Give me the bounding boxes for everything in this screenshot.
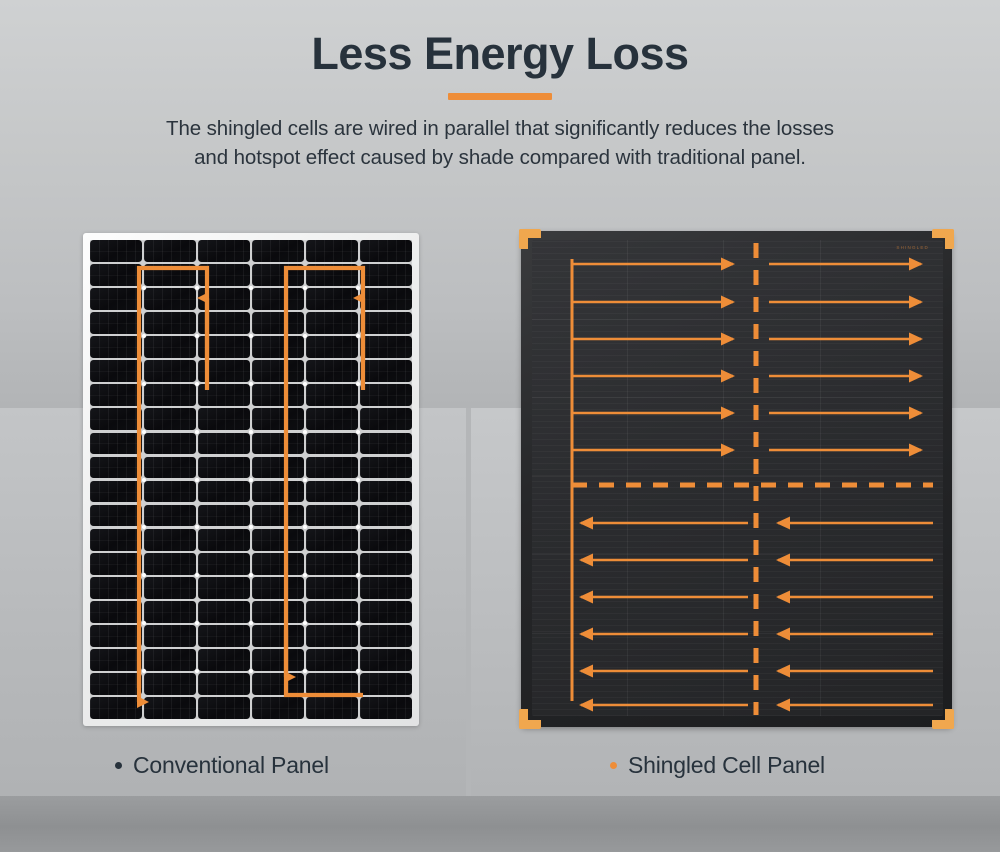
solar-cell [198, 481, 250, 503]
solar-cell [90, 264, 142, 286]
solar-cell [198, 553, 250, 575]
solar-cell [306, 649, 358, 671]
solar-cell [360, 433, 412, 455]
solar-cell [198, 673, 250, 695]
solar-cell [360, 288, 412, 310]
solar-cell [198, 336, 250, 358]
solar-cell [360, 577, 412, 599]
solar-cell [306, 384, 358, 406]
solar-cell [90, 457, 142, 479]
solar-cell [198, 505, 250, 527]
corner-bracket-top-right-icon [932, 229, 954, 249]
solar-cell [144, 240, 196, 262]
solar-cell [360, 240, 412, 262]
cell-junction-dot [356, 525, 360, 529]
caption-shingled-label: Shingled Cell Panel [628, 752, 825, 779]
subtitle: The shingled cells are wired in parallel… [0, 114, 1000, 172]
solar-cell [306, 625, 358, 647]
caption-conventional-label: Conventional Panel [133, 752, 329, 779]
solar-cell [252, 673, 304, 695]
solar-cell [252, 433, 304, 455]
solar-cell [90, 625, 142, 647]
solar-cell [360, 408, 412, 430]
header: Less Energy Loss The shingled cells are … [0, 0, 1000, 172]
solar-cell [252, 336, 304, 358]
solar-cell [144, 577, 196, 599]
solar-cell [198, 360, 250, 382]
solar-cell [144, 625, 196, 647]
shingled-panel-illustration: SHINGLED [521, 231, 952, 727]
solar-cell [252, 360, 304, 382]
solar-cell [306, 336, 358, 358]
solar-cell [306, 481, 358, 503]
solar-cell [198, 529, 250, 551]
solar-cell [360, 457, 412, 479]
solar-cell [198, 625, 250, 647]
solar-cell [90, 360, 142, 382]
shingled-cell-surface: SHINGLED [532, 240, 943, 716]
solar-cell [90, 336, 142, 358]
solar-cell [144, 384, 196, 406]
solar-cell [306, 408, 358, 430]
caption-shingled-panel: Shingled Cell Panel [610, 752, 825, 779]
solar-cell [360, 529, 412, 551]
solar-cell [252, 697, 304, 719]
solar-cell [360, 384, 412, 406]
solar-cell [306, 601, 358, 623]
solar-cell [90, 433, 142, 455]
solar-cell [306, 240, 358, 262]
shingled-column-seam [723, 240, 724, 716]
cell-junction-dot [356, 478, 360, 482]
solar-cell [90, 553, 142, 575]
solar-cell [90, 240, 142, 262]
solar-cell [198, 288, 250, 310]
title-underline-accent [448, 93, 552, 100]
solar-cell [306, 288, 358, 310]
bullet-shingled-icon [610, 762, 617, 769]
solar-cell [360, 553, 412, 575]
solar-cell [252, 601, 304, 623]
corner-bracket-bottom-right-icon [932, 709, 954, 729]
solar-cell [252, 240, 304, 262]
solar-cell [198, 697, 250, 719]
solar-cell [144, 601, 196, 623]
solar-cell [144, 505, 196, 527]
solar-cell [306, 673, 358, 695]
solar-cell [252, 384, 304, 406]
subtitle-line-1: The shingled cells are wired in parallel… [0, 114, 1000, 143]
solar-cell [306, 312, 358, 334]
solar-cell [252, 457, 304, 479]
solar-cell [90, 408, 142, 430]
conventional-panel-illustration [83, 233, 419, 726]
shingled-row-seam [532, 319, 943, 320]
solar-cell [360, 697, 412, 719]
solar-cell [90, 697, 142, 719]
shingled-watermark-text: SHINGLED [896, 245, 929, 250]
solar-cell [198, 384, 250, 406]
solar-cell [198, 577, 250, 599]
solar-cell [252, 529, 304, 551]
solar-cell [198, 264, 250, 286]
solar-cell [360, 625, 412, 647]
solar-cell [252, 481, 304, 503]
cell-junction-dot [303, 478, 307, 482]
shingled-column-seam [820, 240, 821, 716]
solar-cell [252, 625, 304, 647]
solar-cell [144, 264, 196, 286]
shingled-row-seam [532, 633, 943, 634]
solar-cell [360, 264, 412, 286]
background-bottom-band [0, 796, 1000, 852]
solar-cell [198, 312, 250, 334]
solar-cell [144, 673, 196, 695]
solar-cell [90, 601, 142, 623]
solar-cell [252, 312, 304, 334]
solar-cell [306, 577, 358, 599]
solar-cell [144, 336, 196, 358]
solar-cell [90, 577, 142, 599]
solar-cell [90, 384, 142, 406]
solar-cell [360, 481, 412, 503]
solar-cell [144, 697, 196, 719]
solar-cell [252, 553, 304, 575]
solar-cell [144, 312, 196, 334]
solar-cell [306, 360, 358, 382]
solar-cell [360, 505, 412, 527]
solar-cell [90, 481, 142, 503]
solar-cell [252, 288, 304, 310]
solar-cell [198, 457, 250, 479]
solar-cell [360, 336, 412, 358]
subtitle-line-2: and hotspot effect caused by shade compa… [0, 143, 1000, 172]
solar-cell [144, 360, 196, 382]
solar-cell [90, 288, 142, 310]
solar-cell [306, 457, 358, 479]
corner-bracket-bottom-left-icon [519, 709, 541, 729]
page-title: Less Energy Loss [0, 28, 1000, 80]
solar-cell [144, 288, 196, 310]
solar-cell [144, 433, 196, 455]
bullet-conventional-icon [115, 762, 122, 769]
solar-cell [90, 505, 142, 527]
solar-cell [360, 649, 412, 671]
solar-cell [360, 312, 412, 334]
conventional-cell-grid [90, 240, 412, 719]
shingled-row-seam [532, 554, 943, 555]
solar-cell [90, 312, 142, 334]
solar-cell [198, 408, 250, 430]
corner-bracket-top-left-icon [519, 229, 541, 249]
solar-cell [306, 505, 358, 527]
solar-cell [144, 408, 196, 430]
shingled-row-seam [532, 397, 943, 398]
solar-cell [144, 481, 196, 503]
solar-cell [306, 553, 358, 575]
solar-cell [252, 264, 304, 286]
solar-cell [306, 529, 358, 551]
solar-cell [198, 240, 250, 262]
cell-junction-dot [303, 430, 307, 434]
solar-cell [198, 433, 250, 455]
solar-cell [360, 360, 412, 382]
solar-cell [90, 673, 142, 695]
solar-cell [306, 433, 358, 455]
solar-cell [252, 649, 304, 671]
solar-cell [198, 601, 250, 623]
shingled-row-seam [532, 476, 943, 477]
solar-cell [360, 673, 412, 695]
solar-cell [90, 529, 142, 551]
solar-cell [252, 408, 304, 430]
solar-cell [144, 529, 196, 551]
solar-cell [144, 457, 196, 479]
solar-cell [306, 697, 358, 719]
solar-cell [252, 577, 304, 599]
solar-cell [144, 649, 196, 671]
caption-conventional-panel: Conventional Panel [115, 752, 329, 779]
solar-cell [360, 601, 412, 623]
solar-cell [90, 649, 142, 671]
solar-cell [252, 505, 304, 527]
shingled-column-seam [627, 240, 628, 716]
solar-cell [306, 264, 358, 286]
solar-cell [198, 649, 250, 671]
cell-junction-dot [303, 525, 307, 529]
solar-cell [144, 553, 196, 575]
